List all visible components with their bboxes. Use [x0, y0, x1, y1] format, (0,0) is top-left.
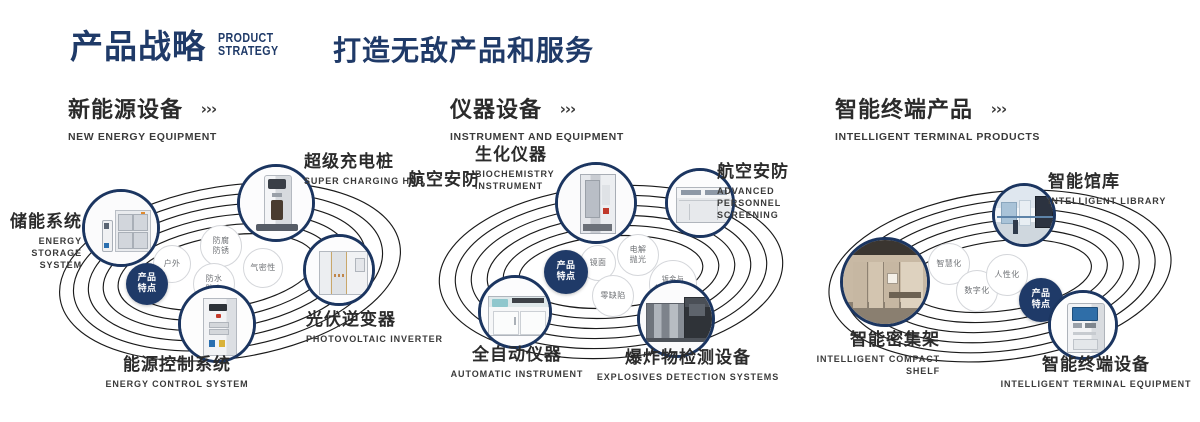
page-title: 产品战略	[70, 27, 206, 67]
control-cabinet-icon	[181, 288, 253, 360]
section-title-instrument: 仪器设备	[450, 98, 542, 123]
label-biochemistry-instrument: 生化仪器 BIOCHEMISTRY INSTRUMENT	[475, 145, 553, 192]
chevron-right-triple-icon: ›››	[560, 96, 576, 122]
section-title-new-energy: 新能源设备	[68, 98, 183, 123]
cluster-new-energy: 户外 防腐 防锈 防水 防尘 气密性 产品 特点	[30, 150, 430, 420]
page-title-english: PRODUCT STRATEGY	[218, 31, 279, 57]
chevron-right-triple-icon: ›››	[201, 96, 217, 122]
node-explosives-detection-systems[interactable]	[637, 280, 715, 358]
node-intelligent-library[interactable]	[992, 183, 1056, 247]
section-title-intelligent: 智能终端产品	[835, 98, 973, 123]
biochemistry-analyzer-icon	[558, 165, 634, 241]
cluster-intelligent-terminal: 智慧化 数字化 人性化 产品 特点 智能馆库 INTELLIG	[800, 150, 1200, 420]
feature-bubble-anticorrosion: 防腐 防锈	[200, 225, 242, 267]
energy-storage-cabinet-icon	[85, 192, 157, 264]
section-subtitle-intelligent: INTELLIGENT TERMINAL PRODUCTS	[835, 131, 1040, 143]
node-photovoltaic-inverter[interactable]	[303, 234, 375, 306]
inverter-cabinet-icon	[306, 237, 372, 303]
poster-header: 产品战略 PRODUCT STRATEGY 打造无敌产品和服务	[0, 0, 1200, 90]
feature-bubble-zero-defect: 零缺陷	[592, 275, 634, 317]
cluster-instrument: 镜面 电解 抛光 零缺陷 钣金与 机加工结合 产品 特点 航空安防	[415, 150, 815, 420]
section-subtitle-new-energy: NEW ENERGY EQUIPMENT	[68, 131, 217, 143]
chevron-right-triple-icon: ›››	[991, 96, 1007, 122]
core-bubble-product-features: 产品 特点	[544, 250, 588, 294]
node-energy-control-system[interactable]	[178, 285, 256, 363]
section-heading-intelligent: 智能终端产品 ››› INTELLIGENT TERMINAL PRODUCTS	[835, 96, 1040, 143]
label-intelligent-compact-shelf: 智能密集架 INTELLIGENT COMPACT SHELF	[790, 330, 940, 377]
label-intelligent-library: 智能馆库 INTELLIGENT LIBRARY	[1048, 172, 1166, 207]
page-subtitle: 打造无敌产品和服务	[333, 34, 594, 68]
node-intelligent-terminal-equipment[interactable]	[1048, 290, 1118, 360]
library-room-icon	[995, 186, 1053, 244]
charging-pile-icon	[240, 167, 312, 239]
label-explosives-detection-systems: 爆炸物检测设备 EXPLOSIVES DETECTION SYSTEMS	[593, 348, 783, 383]
core-bubble-product-features: 产品 特点	[126, 263, 168, 305]
feature-bubble-airtightness: 气密性	[243, 248, 283, 288]
label-super-charging-hub: 超级充电桩 SUPER CHARGING HUB	[304, 152, 425, 187]
label-energy-storage-system: 储能系统 ENERGY STORAGE SYSTEM	[0, 212, 82, 271]
section-heading-instrument: 仪器设备 ››› INSTRUMENT AND EQUIPMENT	[450, 96, 624, 143]
node-intelligent-compact-shelf[interactable]	[840, 237, 930, 327]
label-intelligent-terminal-equipment: 智能终端设备 INTELLIGENT TERMINAL EQUIPMENT	[996, 355, 1196, 390]
section-subtitle-instrument: INSTRUMENT AND EQUIPMENT	[450, 131, 624, 143]
label-aviation-security-left: 航空安防	[408, 170, 480, 191]
node-automatic-instrument[interactable]	[478, 275, 552, 349]
label-energy-control-system: 能源控制系统 ENERGY CONTROL SYSTEM	[82, 355, 272, 390]
poster-canvas: 产品战略 PRODUCT STRATEGY 打造无敌产品和服务 新能源设备 ››…	[0, 0, 1200, 422]
compact-shelving-icon	[843, 240, 927, 324]
explosives-detector-icon	[640, 283, 712, 355]
node-energy-storage-system[interactable]	[82, 189, 160, 267]
node-biochemistry-instrument[interactable]	[555, 162, 637, 244]
section-heading-new-energy: 新能源设备 ››› NEW ENERGY EQUIPMENT	[68, 96, 217, 143]
automatic-instrument-icon	[481, 278, 549, 346]
self-service-kiosk-icon	[1051, 293, 1115, 357]
label-automatic-instrument: 全自动仪器 AUTOMATIC INSTRUMENT	[427, 345, 607, 380]
page-title-english-line2: STRATEGY	[218, 44, 279, 57]
